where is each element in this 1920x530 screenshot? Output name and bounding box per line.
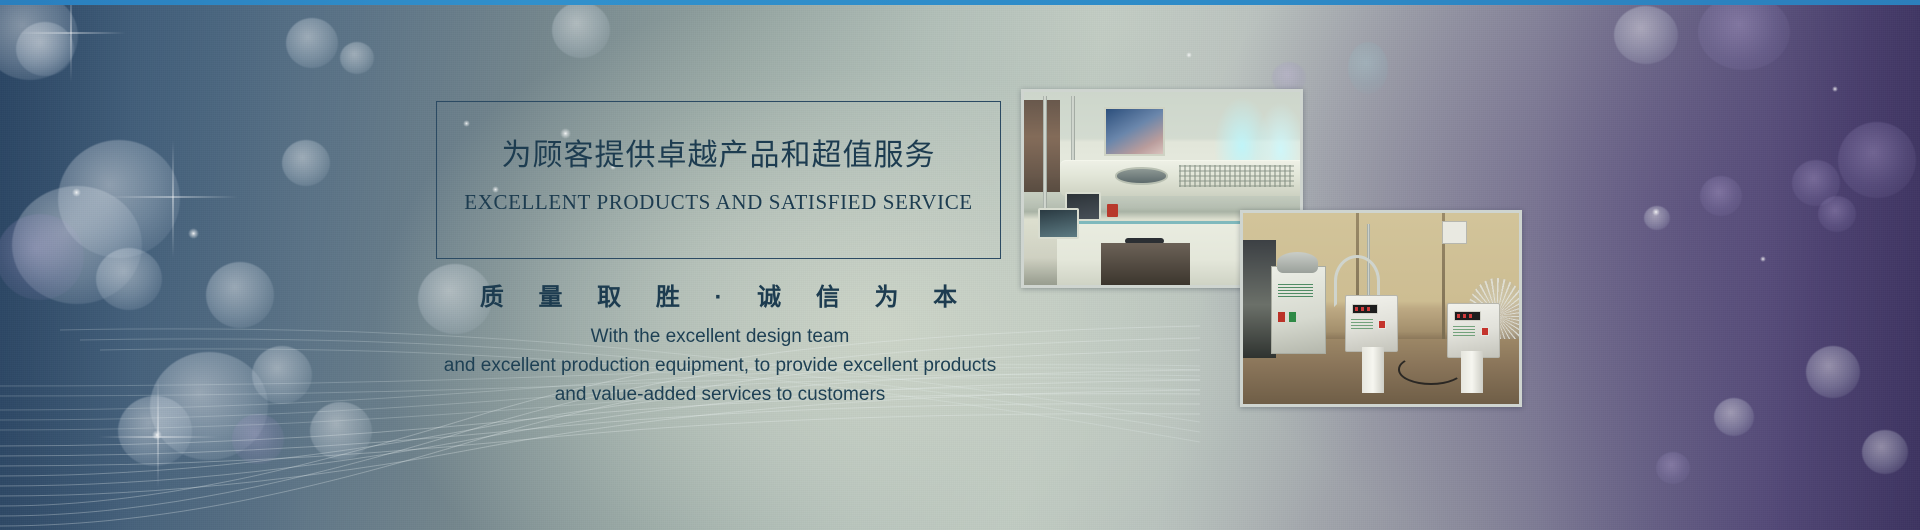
headline-english: EXCELLENT PRODUCTS AND SATISFIED SERVICE	[436, 190, 1001, 215]
banner-text-column: 为顾客提供卓越产品和超值服务 EXCELLENT PRODUCTS AND SA…	[0, 0, 1200, 530]
description-line-2: and excellent production equipment, to p…	[330, 351, 1110, 380]
headline-chinese: 为顾客提供卓越产品和超值服务	[436, 130, 1001, 174]
headline-frame	[436, 101, 1001, 259]
description-line-3: and value-added services to customers	[330, 380, 1110, 409]
company-slogan: 质 量 取 胜 · 诚 信 为 本	[436, 277, 1001, 312]
company-banner: 为顾客提供卓越产品和超值服务 EXCELLENT PRODUCTS AND SA…	[0, 0, 1920, 530]
description-line-1: With the excellent design team	[330, 322, 1110, 351]
production-press-machines-photo	[1240, 210, 1522, 407]
description-paragraph: With the excellent design team and excel…	[330, 322, 1110, 409]
top-accent-stripe	[0, 0, 1920, 5]
